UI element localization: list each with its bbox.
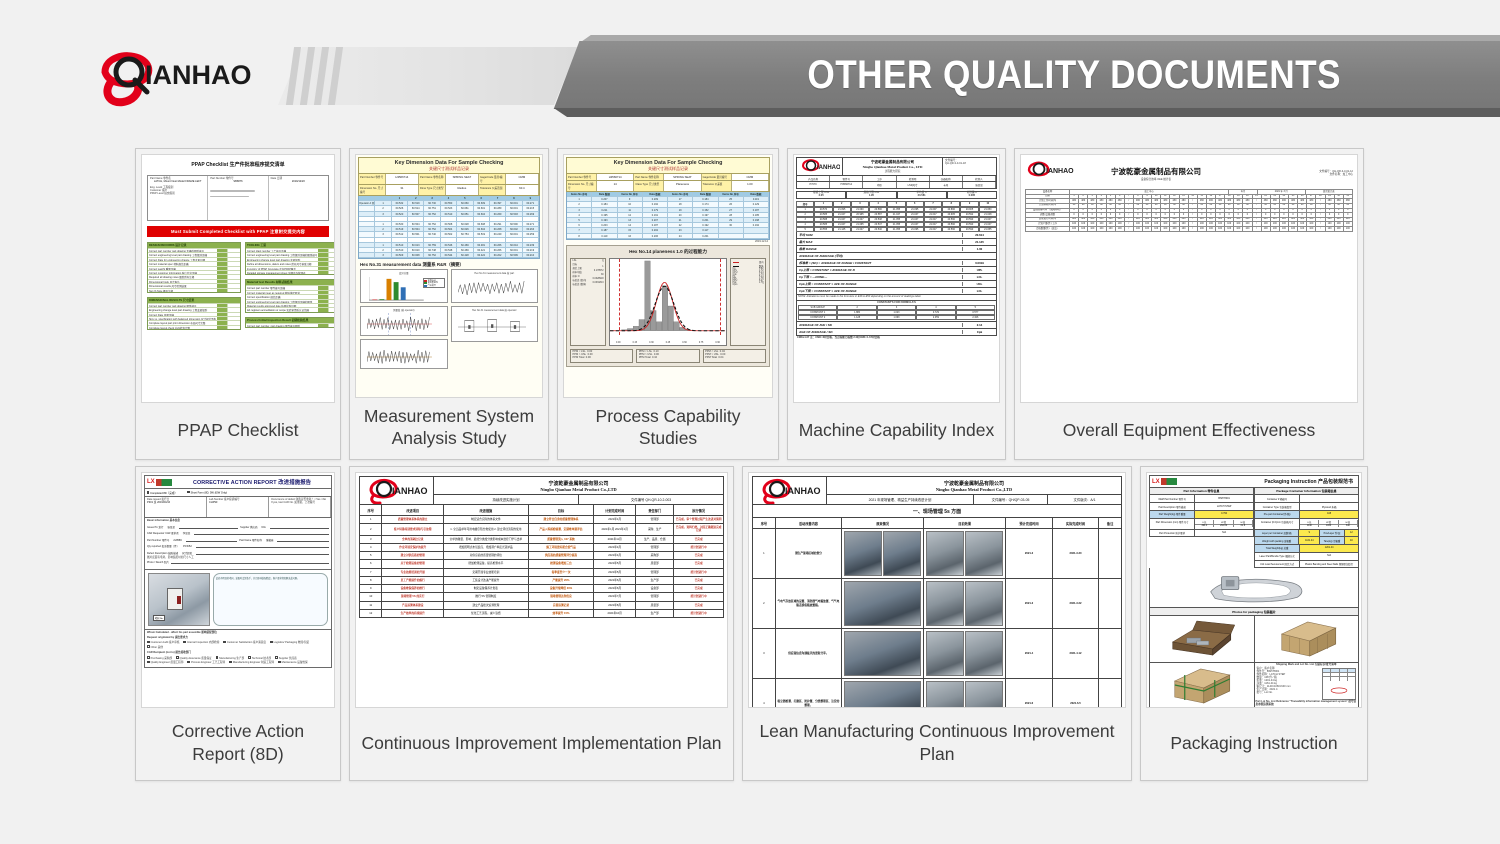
ppap-checklist-row: Correct material meet as required 材料满足要求: [246, 290, 335, 294]
ppap-checklist-row: Engineering change level part drawing 变更…: [246, 257, 335, 261]
checkbox[interactable]: [275, 656, 278, 659]
defect-photo: 毛刺 No.: [148, 573, 210, 626]
car-header: LX CORRECTIVE ACTION REPORT 改进措施报告: [144, 475, 332, 489]
pkg-doc-title: Packaging Instruction 产品包装规范书: [1180, 478, 1356, 485]
pkg-info-row: Part Description 零件描述LATCH STEP: [1149, 503, 1254, 511]
table-row: 3供应商信息沟通板灭的更新分享。2021.42021.4.12: [752, 629, 1122, 679]
pkg-closed-crate-photo: [1255, 616, 1359, 662]
qianhao-logo: IANHAO: [95, 52, 280, 108]
ppap-checklist-row: Correct engineering level part drawing 工…: [148, 252, 240, 256]
car-option[interactable]: Quality Engineer 质量工程师: [147, 661, 183, 664]
pkg-header: LX Packaging Instruction 产品包装规范书: [1149, 475, 1359, 488]
photo-thumb: [883, 531, 921, 576]
ppap-checklist-row: Complete layout check 布局检查完整: [148, 325, 240, 329]
pcs-title-block: Key Dimension Data For Sample Checking 关…: [566, 157, 770, 174]
ppap-warning-banner: Must Submit Completed Checklist with PPA…: [147, 226, 329, 237]
lean-section-band: 一、现场管理 5s 方面: [752, 505, 1122, 518]
photo-thumb: [844, 631, 921, 676]
car-logos: LX: [147, 479, 172, 486]
mci-spec-cell: 标准差 σ0.085: [947, 191, 997, 199]
pkg-info-row: Pre-part Container(件/箱)108: [1254, 511, 1359, 519]
photo-thumb: [965, 531, 1003, 576]
keydim-data-row: 360.50960.60860.75260.54460.42860.42260.…: [359, 253, 539, 258]
keydim-meta-row: Part Number 零件号H3566714Part Name 零件名称SPR…: [566, 174, 770, 181]
ppap-meta-value-2: 2019/12/20: [271, 181, 326, 184]
mci-formula-row: 标准差 = (SD) = AVERAGE OF RANGE / CONSTANT…: [796, 260, 997, 267]
photo-cell: [924, 679, 1006, 708]
car-option[interactable]: Quality Assurance 质量保证: [176, 657, 212, 660]
cip-company-en: Ningbo Qianhao Metal Product Co.,LTD: [434, 487, 723, 492]
table-row: 7专业技能培训的开展定期开展专业技能培训每季度至少一次2021年5月管理部按计划…: [359, 569, 724, 577]
pkg-info-row: OEM Part Number 零件号BSP78001: [1149, 495, 1254, 503]
pcs-stat: 标差差 (整体)0.0331813: [573, 282, 604, 286]
page-header: IANHAO OTHER QUALITY DOCUMENTS: [0, 0, 1500, 140]
msa-title-block: Key Dimension Data For Sample Checking 关…: [358, 157, 540, 174]
card-msa-study[interactable]: Key Dimension Data For Sample Checking 关…: [349, 148, 549, 460]
table-row: 4吸尘器检测、打磨区、防护置、分类整理区、注安的整理。2021.62021.6.…: [752, 679, 1122, 708]
car-photo-area: 毛刺 No. 此处有明显的毛刺，装配时会划伤手，并且影响装配精度，客户要求彻底解…: [144, 570, 332, 630]
mci-final-rows: AVERAGE OF AVE / SD2.14AGE OF AVERAGE / …: [796, 322, 997, 336]
ppap-checklist-row: Correct engineering level part drawing 工…: [246, 252, 335, 256]
pkg-photo-row-1: [1149, 616, 1359, 663]
pkg-info-row: Part Weight(kg) 零件重量0.790: [1149, 511, 1254, 519]
msa-xbar-chart: 测量值 (按 operator): [360, 306, 448, 336]
mci-formula-row: Cpk下限 = CONSTANT × AVE OF RANGELCL: [796, 288, 997, 295]
gallery-row-1: PPAP Checklist 生产件批准程序提交清单 Part Name 零件名…: [135, 148, 1385, 460]
photo-cell: [842, 529, 924, 578]
table-row: 1质量管理体系体系的建立制定适合实际的体系文件建立符合自身的质量管理体系2021…: [359, 516, 724, 524]
ppap-checklist-row: Correct part number, part drawing 零件编号图纸: [246, 323, 335, 327]
ppap-checklist-row: Correct weight 重量正确: [148, 266, 240, 270]
photo-thumb: [926, 631, 964, 676]
ppap-checklist-row: Dimensional results 尺寸检测结果: [148, 283, 240, 287]
ppap-checklist-row: Material results approved date 结果批准日期: [246, 303, 335, 307]
checkbox[interactable]: [147, 661, 150, 664]
pkg-ship-note: Part Lot No. List Reference "Traceabilit…: [1255, 700, 1359, 708]
ppap-checklist-row: lab registers accreditation or scope 实验室…: [246, 307, 335, 311]
photo-thumb: [926, 531, 964, 576]
header-ribbon-stripes: [288, 47, 378, 105]
car-option[interactable]: Internal Inspection 内部检验: [183, 641, 219, 644]
table-row: 2客户特殊特别要求消除与引故障1. 全员品单年可用电磁引陷分类使用 2. 建立评…: [359, 524, 724, 535]
oee-company-cn: 宁波乾豪金属制品有限公司: [1079, 166, 1233, 177]
pkg-info-row: Container (0.0)mm 包装箱尺寸L/长W/宽H/高11401060…: [1254, 519, 1359, 530]
photo-cell: [924, 629, 1006, 678]
ppap-checklist-row: Correct material spec 材料规范正确: [148, 261, 240, 265]
card-machine-capability[interactable]: IANHAO 宁波乾豪金属制品有限公司 Ningbo Qianhao Metal…: [787, 148, 1006, 460]
msa-data-grid: 123456789Operator A 测量人A160.53260.51960.…: [358, 196, 540, 259]
part-3d-icon: [1150, 568, 1358, 607]
mci-constants-table: SUB GROUP2345CONSTANT 11.8801.0230.7290.…: [798, 305, 995, 320]
lean-header: IANHAO 宁波乾豪金属制品有限公司 Ningbo Qianhao Metal…: [752, 476, 1122, 505]
photo-thumb: [965, 631, 1003, 676]
mci-docno: QH-QR-3-3-01-18: [945, 163, 994, 166]
checkbox[interactable]: [216, 656, 219, 659]
table-row: 5建立对供应商的管理对供应商的质量管理的评估供应商的质量管理评分提高2021年4…: [359, 552, 724, 560]
thumb-packaging-instruction[interactable]: LX Packaging Instruction 产品包装规范书 Part In…: [1146, 472, 1362, 708]
photo-thumb: [926, 581, 964, 626]
card-oee[interactable]: IANHAO 宁波乾豪金属制品有限公司 设备综合效率 OEE 统计表 文件编号：…: [1014, 148, 1364, 460]
checkbox[interactable]: [147, 645, 150, 648]
cip-column-headers: 序号改进项目改进措施目标计划完成时间责任部门执行情况: [359, 505, 724, 516]
car-field-input[interactable]: [270, 526, 329, 529]
svg-text:IANHAO: IANHAO: [145, 60, 252, 90]
car-option[interactable]: Purchasing 采购部: [147, 657, 172, 660]
pkg-info-row: Container Type 包装箱类型Plywood 木箱: [1254, 503, 1359, 511]
checkbox[interactable]: [147, 641, 150, 644]
pkg-shipping-mark-block: Shipping Mark and Lot No. List 包装标识/批号清单…: [1255, 663, 1359, 708]
pkg-logos: LX: [1152, 478, 1177, 485]
checkbox[interactable]: [248, 656, 251, 659]
caption-oee: Overall Equipment Effectiveness: [1015, 403, 1363, 459]
photo-thumb: [844, 581, 921, 626]
keydim-meta-row: Dimension No. 尺寸编号31Dime Type 尺寸类型Radius…: [358, 185, 540, 196]
mci-spec-cell: 规格下限 LSL1.95: [846, 191, 896, 199]
card-process-capability[interactable]: Key Dimension Data For Sample Checking 关…: [557, 148, 779, 460]
msa-title-cn: 关键尺寸测试样品记录: [359, 166, 539, 172]
msa-xbar-svg: [367, 313, 432, 335]
table-row: 9设备维保保养的推行制定设备保养计划表设备异常降低 30%2021年6月设备部已…: [359, 585, 724, 593]
lx-logo-icon: LX: [1152, 479, 1160, 485]
pcs-meta-table: Part Number 零件号H3566714Part Name 零件名称SPR…: [566, 174, 770, 192]
qianhao-logo-icon: IANHAO: [95, 52, 280, 108]
pkg-info-row: Container # 箱编号: [1254, 495, 1359, 503]
mci-grid-row: 520.55521.14521.04720.54021.05521.09521.…: [796, 227, 997, 232]
ppap-checklist-row: Dimensional book 尺寸报告: [148, 279, 240, 283]
lean-column-headers: 序号活动改善内容原来情况目前效果预计完成时间实际完成时间备注: [752, 518, 1122, 529]
caption-ppap-checklist: PPAP Checklist: [136, 403, 340, 459]
car-responsibility: Whom Calculated - affect his part assemb…: [144, 630, 332, 668]
mci-stat-row: 最大 MAX21.145: [796, 239, 997, 246]
pkg-part-info: OEM Part Number 零件号BSP78001Part Descript…: [1149, 495, 1254, 537]
qianhao-logo-icon: IANHAO: [759, 478, 821, 504]
car-field-input[interactable]: [186, 539, 238, 542]
msa-meta-table: Part Number 零件号H3566714Part Name 零件名称SPR…: [358, 174, 540, 196]
caption-corrective-action: Corrective Action Report (8D): [136, 708, 340, 780]
thumb-msa-study[interactable]: Key Dimension Data For Sample Checking 关…: [355, 154, 543, 398]
pcs-data-grid: Items No 序号Data 数据Items No 序号Data 数据Item…: [566, 192, 770, 240]
card-corrective-action[interactable]: LX CORRECTIVE ACTION REPORT 改进措施报告 Compl…: [135, 466, 341, 781]
banded-crate-icon: [1150, 663, 1254, 708]
header-ribbon-dark: OTHER QUALITY DOCUMENTS: [548, 41, 1500, 109]
thumb-lean-manufacturing[interactable]: IANHAO 宁波乾豪金属制品有限公司 Ningbo Qianhao Metal…: [748, 472, 1126, 708]
car-field: Defect Description 缺陷描述尺寸超差: [147, 551, 329, 555]
photo-callout-bubble: 此处有明显的毛刺，装配时会划伤手，并且影响装配精度，客户要求彻底解决此问题。: [213, 573, 328, 626]
cip-company-cn: 宁波乾豪金属制品有限公司: [434, 480, 723, 487]
lean-doc-name: 2021 年现场管理、精益生产持续改进计划: [827, 495, 974, 504]
mci-spec-cell: 规格上限 USL2.05: [796, 191, 846, 199]
oee-subtitle: 设备综合效率 OEE 统计表: [1079, 177, 1233, 181]
lean-doc-no: 文件编号：QH/QP-03-05: [974, 495, 1048, 504]
car-field: CAR Requestor CAR 要求者李某某: [147, 531, 329, 535]
msa-variation-barchart: 变异分量 量具R&R 量具重复性 产品变异: [360, 269, 448, 303]
caption-process-capability: Process Capability Studies: [558, 398, 778, 460]
mci-meta-values: P7070H3566714冲压LSR尺寸卡尺张某某: [796, 182, 997, 188]
photo-thumb: [926, 681, 964, 708]
mci-spec-limits: 规格上限 USL2.05规格下限 LSL1.95平均值 X20.581标准差 σ…: [796, 191, 997, 199]
car-head-3col: Date issued 发行日P301 班 2019/04/16 Lab Num…: [144, 497, 332, 518]
pcs-footer-stats: PPM < LSL 0.00PPM > USL 0.00PPM Total 0.…: [570, 349, 766, 363]
car-field-input[interactable]: [179, 526, 238, 529]
mci-stat-row: 平均 SUM20.614: [796, 232, 997, 239]
table-row: 1测生产现场区域的划分2021.32021.3.30: [752, 529, 1122, 579]
oee-logo: IANHAO: [1025, 161, 1079, 186]
ppap-checklist-row: Correct Date 日期正确: [148, 312, 240, 316]
checkbox-short-form[interactable]: [187, 491, 190, 494]
svg-text:IANHAO: IANHAO: [1046, 168, 1074, 175]
mci-footer: CMK≥1.67 注：CMK=3时合格，当过程能力指数 2.0时CMK=1.67…: [796, 336, 997, 341]
pcs-foot-1: PPM < LSL 0.00PPM > USL 0.00PPM Total 0.…: [570, 349, 633, 363]
keydim-data-row: 80.119160.206240.201: [567, 234, 769, 239]
thumb-ppap-checklist[interactable]: PPAP Checklist 生产件批准程序提交清单 Part Name 零件名…: [141, 154, 335, 403]
oee-table: 设备名称加工中心年月2021 年 3 月班次统计表日期1234567891011…: [1025, 189, 1353, 232]
pkg-info-row: Weight with packing 含箱重1161.44Tare(kg) 空…: [1254, 537, 1359, 545]
thumb-process-capability[interactable]: Key Dimension Data For Sample Checking 关…: [563, 154, 773, 398]
car-option[interactable]: Technical 技术部: [248, 657, 271, 660]
qianhao-logo-icon: IANHAO: [800, 159, 840, 175]
ppap-doc-title: PPAP Checklist 生产件批准程序提交清单: [145, 158, 331, 171]
card-packaging-instruction[interactable]: LX Packaging Instruction 产品包装规范书 Part In…: [1140, 466, 1368, 781]
msa-byoperator-boxplot: Hex No.31 measurement data 按 operator: [451, 306, 539, 342]
pkg-info-row: Part Protection 防护要求N/A: [1149, 530, 1254, 538]
table-row: 6关于检测设备的管理增加检测设备，提高检测水平检测设备增加三台2021年5月质量…: [359, 560, 724, 568]
ppap-checklist-row: Complete layout part print dimension 布局尺…: [148, 320, 240, 324]
ppap-checklist-row: Correct plant number 工厂编号正确: [246, 248, 335, 252]
mci-doc-name: 过程能力研究: [843, 169, 942, 173]
car-option[interactable]: Manufacturing Engineer 制造工程师: [229, 661, 274, 664]
checkbox-completed-8d[interactable]: [147, 491, 150, 494]
pcs-axis-ticks: 0.000.150.300.450.600.750.90: [610, 342, 726, 344]
car-option[interactable]: Manufacturing 生产部: [216, 657, 245, 660]
photo-cell: [924, 529, 1006, 578]
partner-logo-icon: [1161, 478, 1177, 485]
mci-stat-rows: 平均 SUM20.614最大 MAX21.145极差 RANGE1.00: [796, 232, 997, 253]
pcs-title-cn: 关键尺寸测试样品记录: [567, 166, 769, 172]
checkbox[interactable]: [223, 641, 226, 644]
car-option[interactable]: Logistics/ Packaging 物流/包装: [270, 641, 309, 644]
car-field: Issued To 发行张某某Supplier 供应商N/A: [147, 525, 329, 529]
checkbox[interactable]: [183, 641, 186, 644]
thumb-oee[interactable]: IANHAO 宁波乾豪金属制品有限公司 设备综合效率 OEE 统计表 文件编号：…: [1020, 154, 1358, 403]
checkbox[interactable]: [187, 661, 190, 664]
pcs-histogram: 0.000.150.300.450.600.750.90: [609, 258, 727, 346]
card-continuous-improvement[interactable]: IANHAO 宁波乾豪金属制品有限公司 Ningbo Qianhao Metal…: [349, 466, 734, 781]
table-row: 8员工产能提升的施行工装设计改进产能提升产能提升 20%2021年6月生产部已完…: [359, 577, 724, 585]
table-row: 12生产效率的持续提升优化工艺流程，减少浪费效率提升 15%2021年10月生产…: [359, 610, 724, 618]
ppap-section: DIMENSIONAL RESULTS 尺寸结果Correct part num…: [147, 297, 241, 330]
msa-bar-svg: [369, 277, 424, 301]
photo-thumb: [844, 531, 882, 576]
car-field-list: Issued To 发行张某某Supplier 供应商N/ACAR Reques…: [147, 525, 329, 555]
pkg-banded-crate-photo: [1150, 663, 1255, 708]
mci-final-row: AGE OF AVERAGE / SDCpk: [796, 329, 997, 336]
ppap-checklist-row: Inventory of PPAP Coverage 库存PPAP覆盖: [246, 266, 335, 270]
checkbox[interactable]: [176, 656, 179, 659]
car-request-options: Customer Audit 客户审核Internal Inspection 内…: [147, 641, 329, 650]
cip-logo: IANHAO: [360, 477, 434, 504]
ppap-checklist-row: Correct part number part drawing 图纸编号: [148, 303, 240, 307]
checkbox[interactable]: [270, 641, 273, 644]
table-row: 2气电气存放区域的设置、消防器气电箱放置、气气电箱丢袋每箱放置箱。2021.32…: [752, 579, 1122, 629]
mci-spec-cell: 平均值 X20.581: [897, 191, 947, 199]
pkg-open-crate-photo: [1150, 616, 1255, 662]
pkg-info-row: Laser Part/Bundle Type 捆绑方式N/A: [1254, 553, 1359, 561]
svg-text:IANHAO: IANHAO: [785, 486, 821, 496]
closed-crate-icon: [1255, 616, 1359, 662]
car-field: Qty reported 投诉数量（件）PCS/52: [147, 544, 329, 548]
pkg-photos-band: Photos for packaging 包装图片: [1149, 608, 1359, 615]
mci-formula-row: AVERAGE OF AVERAGE (平均): [796, 253, 997, 260]
cip-doc-name: 持续改进实施计划: [434, 495, 579, 504]
pkg-info-row: Part Dimension (mm) 零件尺寸L/长W/宽H/高494.426…: [1149, 519, 1254, 530]
caption-machine-capability: Machine Capability Index: [788, 403, 1005, 459]
cip-doc-no: 文件编号 QH-QR-10.2-003: [579, 495, 723, 504]
pcs-foot-2: PPM < LSL 0.10PPM > USL 0.00PPM Total 0.…: [636, 349, 699, 363]
lean-rows: 1测生产现场区域的划分2021.32021.3.302气电气存放区域的设置、消防…: [752, 529, 1122, 708]
photo-cell: [842, 629, 924, 678]
ppap-section: DESIGN RECORDS 设计记录Correct part number p…: [147, 242, 241, 293]
oee-header: IANHAO 宁波乾豪金属制品有限公司 设备综合效率 OEE 统计表 文件编号：…: [1025, 159, 1353, 189]
pkg-photo-row-2: Shipping Mark and Lot No. List 包装标识/批号清单…: [1149, 663, 1359, 708]
lean-rev: 文件版次：A/1: [1048, 495, 1121, 504]
photo-cell: [842, 679, 924, 708]
car-option[interactable]: Customer Audit 客户审核: [147, 641, 179, 644]
qianhao-logo-icon: IANHAO: [1025, 161, 1075, 181]
pcs-stats-right: 组内整体Cp5.62CPL1.72CPU8.14Cpk1.73Pp5.14PPL…: [730, 258, 766, 346]
checkbox[interactable]: [229, 661, 232, 664]
photo-thumb: [965, 681, 1003, 708]
msa-range-chart: [360, 339, 448, 369]
car-option[interactable]: Customer Satisfaction 客户满意度: [223, 641, 266, 644]
document-gallery: PPAP Checklist 生产件批准程序提交清单 Part Name 零件名…: [135, 148, 1385, 781]
ppap-right-column: TOOLING 工装Correct plant number 工厂编号正确Cor…: [245, 242, 335, 334]
ppap-section: TOOLING 工装Correct plant number 工厂编号正确Cor…: [245, 242, 335, 275]
page-title: OTHER QUALITY DOCUMENTS: [807, 53, 1341, 98]
gallery-row-2: LX CORRECTIVE ACTION REPORT 改进措施报告 Compl…: [135, 466, 1385, 781]
card-lean-manufacturing[interactable]: IANHAO 宁波乾豪金属制品有限公司 Ningbo Qianhao Metal…: [742, 466, 1132, 781]
pkg-ship-lines: 客户：客户名称零件号：BSP78001零件名称：LATCH STEP数量：108…: [1257, 668, 1321, 700]
mci-stat-row: 极差 RANGE1.00: [796, 246, 997, 253]
pcs-histogram-svg: [610, 259, 726, 335]
ppap-checklist-row: Engineering change level part drawing 工程…: [148, 307, 240, 311]
ppap-meta-table: Part Name 零件名 LATCH, Mount Nest Model FR…: [147, 175, 329, 221]
car-option[interactable]: Process Engineer 工艺工程师: [187, 661, 225, 664]
pcs-stat: Cpm*: [733, 284, 764, 286]
caption-packaging-instruction: Packaging Instruction: [1141, 708, 1367, 780]
partner-logo-icon: [156, 479, 172, 486]
header-ribbon-bottom-edge: [548, 108, 1500, 117]
car-form-type: Completed 8D（完成） Short Form (8D, 5W &5W …: [144, 489, 332, 497]
ppap-checklist-row: Correct Date for engineering change 工程变更…: [148, 257, 240, 261]
pcs-foot-3: PPM < LSL 0.04PPM > USL 0.00PPM Total 0.…: [703, 349, 766, 363]
pcs-chart-title: Hex No.14 planeness 1.0 的过程能力: [570, 249, 766, 255]
table-row: 10现场管理 5S 的实行推行 5S 管理制度现场管理达到优良2021年7月管理…: [359, 593, 724, 601]
thumb-corrective-action[interactable]: LX CORRECTIVE ACTION REPORT 改进措施报告 Compl…: [141, 472, 335, 708]
car-field-input[interactable]: [277, 539, 329, 542]
lean-company-cn: 宁波乾豪金属制品有限公司: [827, 480, 1121, 487]
ppap-checklist-row: Required all drawing notes 图纸所有注释: [148, 274, 240, 278]
checkbox[interactable]: [278, 661, 281, 664]
car-field-input[interactable]: [196, 545, 329, 548]
table-row: 3全单的消耗比记录全单的碰量、影响、最终分类加分类影响成本监控门学与出单质量管理…: [359, 536, 724, 544]
keydim-meta-row: Dimension No. 尺寸编号14Class Type 尺寸类型Plane…: [566, 181, 770, 192]
oee-data-row: 合格数量(件)（良品）100100100100100100/1001001001…: [1026, 227, 1353, 232]
ppap-left-column: DESIGN RECORDS 设计记录Correct part number p…: [147, 242, 241, 334]
ppap-checklist-row: Correct part number part drawing 正确的图纸编号: [148, 248, 240, 252]
table-row: 4作业环境安保护的提升增加照明点布局反应、增加调广率反光道护品施工环境更好配合使…: [359, 544, 724, 552]
car-field: Part Number 零件号2L8586Part Name 零件名称弹簧座: [147, 538, 329, 542]
pkg-info-row: Total Weight(kg) 总重1201.44: [1254, 545, 1359, 553]
mci-formula-row: Cp上限 = CONSTANT × AVERAGE OF RUPL: [796, 267, 997, 274]
ppap-section: Material/ test Results 材料试验结果Correct par…: [245, 279, 335, 312]
photo-thumb: [844, 681, 921, 708]
ppap-meta-label-3: PPAP Level 提交级别: [150, 193, 205, 196]
car-field-input[interactable]: [196, 552, 329, 555]
pkg-right-head: Package Container Information 包装箱信息: [1254, 488, 1359, 495]
svg-text:IANHAO: IANHAO: [392, 486, 428, 496]
car-field-input[interactable]: [194, 532, 329, 535]
lx-logo-icon: LX: [147, 479, 155, 485]
ppap-meta-value-0: LATCH, Mount Nest Model FRAME LEFT: [150, 181, 205, 184]
mci-final-row: AVERAGE OF AVE / SD2.14: [796, 322, 997, 329]
caption-msa-study: Measurement System Analysis Study: [350, 398, 548, 460]
msa-bypart-chart: Hex No.31 measurement data 按 part: [451, 269, 539, 303]
mci-logo: IANHAO: [797, 158, 843, 175]
car-option[interactable]: Other 其他: [147, 646, 163, 649]
pkg-ship-line: 批号：Lot No.: [1257, 692, 1321, 695]
msa-subtitle: Hex No.31 measurement data 测量系 R&R（摘要）: [360, 262, 538, 268]
oee-meta-1: 文件名称：加工中心: [1233, 174, 1353, 177]
ppap-meta-value-1: SB6876: [210, 181, 265, 184]
photo-thumb: [965, 581, 1003, 626]
pkg-part-render: [1149, 568, 1359, 608]
ppap-checklist-row: Correct specification 规范正确: [246, 294, 335, 298]
ppap-checklist-row: Correct customer information 客户信息正确: [148, 270, 240, 274]
ppap-checklist-row: Define all dimensions, datum and notes 所…: [246, 261, 335, 265]
photo-callout-label: 毛刺 No.: [153, 615, 165, 621]
mci-formula-row: Cp下限 = —NONE—LCL: [796, 274, 997, 281]
lean-company-en: Ningbo Qianhao Metal Product Co.,LTD: [827, 487, 1121, 492]
car-dept-options: Purchasing 采购部Quality Assurance 质量保证Manu…: [147, 656, 329, 665]
lean-logo: IANHAO: [753, 477, 827, 504]
mci-formula-row: Cpk上限 = CONSTANT × AVE OF RANGEUCL: [796, 281, 997, 288]
caption-continuous-improvement: Continuous Improvement Implementation Pl…: [350, 708, 733, 780]
mci-formula-rows: AVERAGE OF AVERAGE (平均)标准差 = (SD) = AVER…: [796, 253, 997, 295]
car-option[interactable]: Supplier 供应商: [275, 657, 297, 660]
table-row: 11产品追溯体系建设建立产品批次追溯管理完善追溯记录2021年8月质量部已完成: [359, 602, 724, 610]
car-basic-info: Basic information 基本信息 Issued To 发行张某某Su…: [144, 518, 332, 570]
ppap-section: Process/ Initial Inspection Result 初期检验结…: [245, 317, 335, 328]
thumb-continuous-improvement[interactable]: IANHAO 宁波乾豪金属制品有限公司 Ningbo Qianhao Metal…: [355, 472, 728, 708]
mci-measurement-grid: 组号12345678910120.57021.09521.09020.59021…: [796, 201, 997, 232]
pkg-left-head: Part Information 零件信息: [1149, 488, 1254, 495]
photo-cell: [842, 579, 924, 628]
car-doc-title: CORRECTIVE ACTION REPORT 改进措施报告: [175, 478, 329, 486]
keydim-meta-row: Part Number 零件号H3566714Part Name 零件名称SPR…: [358, 174, 540, 185]
thumb-machine-capability[interactable]: IANHAO 宁波乾豪金属制品有限公司 Ningbo Qianhao Metal…: [793, 154, 1000, 403]
cip-rows: 1质量管理体系体系的建立制定适合实际的体系文件建立符合自身的质量管理体系2021…: [359, 516, 724, 618]
pkg-container-info: Container # 箱编号Container Type 包装箱类型Plywo…: [1254, 495, 1359, 568]
card-ppap-checklist[interactable]: PPAP Checklist 生产件批准程序提交清单 Part Name 零件名…: [135, 148, 341, 460]
open-crate-icon: [1150, 616, 1254, 662]
msa-legend: 量具R&R 量具重复性 产品变异: [423, 278, 445, 288]
car-option[interactable]: Maintenance 设备维保: [278, 661, 308, 664]
mci-header: IANHAO 宁波乾豪金属制品有限公司 Ningbo Qianhao Metal…: [796, 157, 997, 176]
msa-range-svg: [367, 344, 432, 366]
pcs-stats-left: LSL0目标*规范上限1样本均值0.178572样本 N30标差差 (组内)0.…: [570, 258, 606, 346]
checkbox[interactable]: [147, 656, 150, 659]
pkg-lot-table-icon: [1322, 668, 1356, 700]
